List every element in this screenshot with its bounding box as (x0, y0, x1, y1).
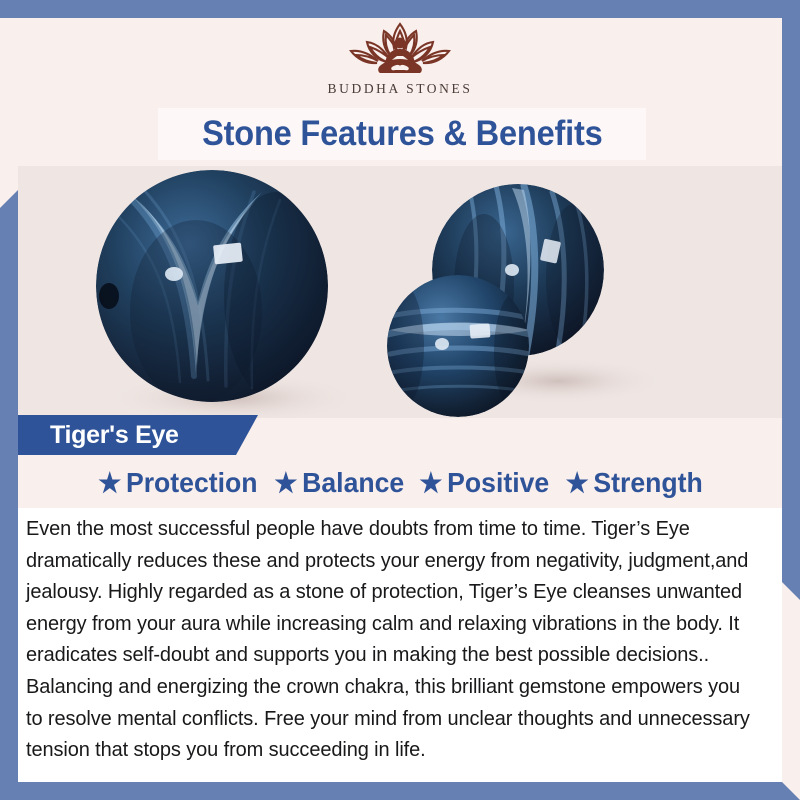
benefit-label: Balance (302, 467, 404, 499)
brand-header: BUDDHA STONES (0, 18, 800, 104)
lotus-meditation-icon (337, 18, 463, 80)
benefit-label: Protection (126, 467, 258, 499)
star-icon: ★ (98, 470, 121, 497)
benefit-label: Positive (447, 467, 549, 499)
star-icon: ★ (420, 470, 443, 497)
page-title-band: Stone Features & Benefits (158, 108, 646, 160)
benefit-item: ★ Positive (420, 467, 550, 499)
benefit-item: ★ Protection (98, 467, 257, 499)
stone-name-ribbon: Tiger's Eye (18, 415, 258, 455)
stone-photo (18, 166, 782, 418)
page-title: Stone Features & Benefits (202, 114, 603, 154)
description-block: Even the most successful people have dou… (18, 508, 782, 782)
stone-name: Tiger's Eye (18, 421, 179, 450)
benefit-item: ★ Balance (274, 467, 404, 499)
infographic-card: BUDDHA STONES Stone Features & Benefits (0, 0, 800, 800)
benefits-row: ★ Protection ★ Balance ★ Positive ★ Stre… (18, 463, 782, 503)
stone-photo-illustration (18, 166, 782, 418)
frame-border-bottom (0, 782, 800, 800)
description-text: Even the most successful people have dou… (26, 514, 759, 767)
benefit-label: Strength (593, 467, 702, 499)
frame-border-top (0, 0, 800, 18)
brand-wordmark: BUDDHA STONES (328, 81, 473, 97)
star-icon: ★ (274, 470, 297, 497)
frame-border-left (0, 190, 18, 800)
benefit-item: ★ Strength (565, 467, 702, 499)
star-icon: ★ (565, 470, 588, 497)
